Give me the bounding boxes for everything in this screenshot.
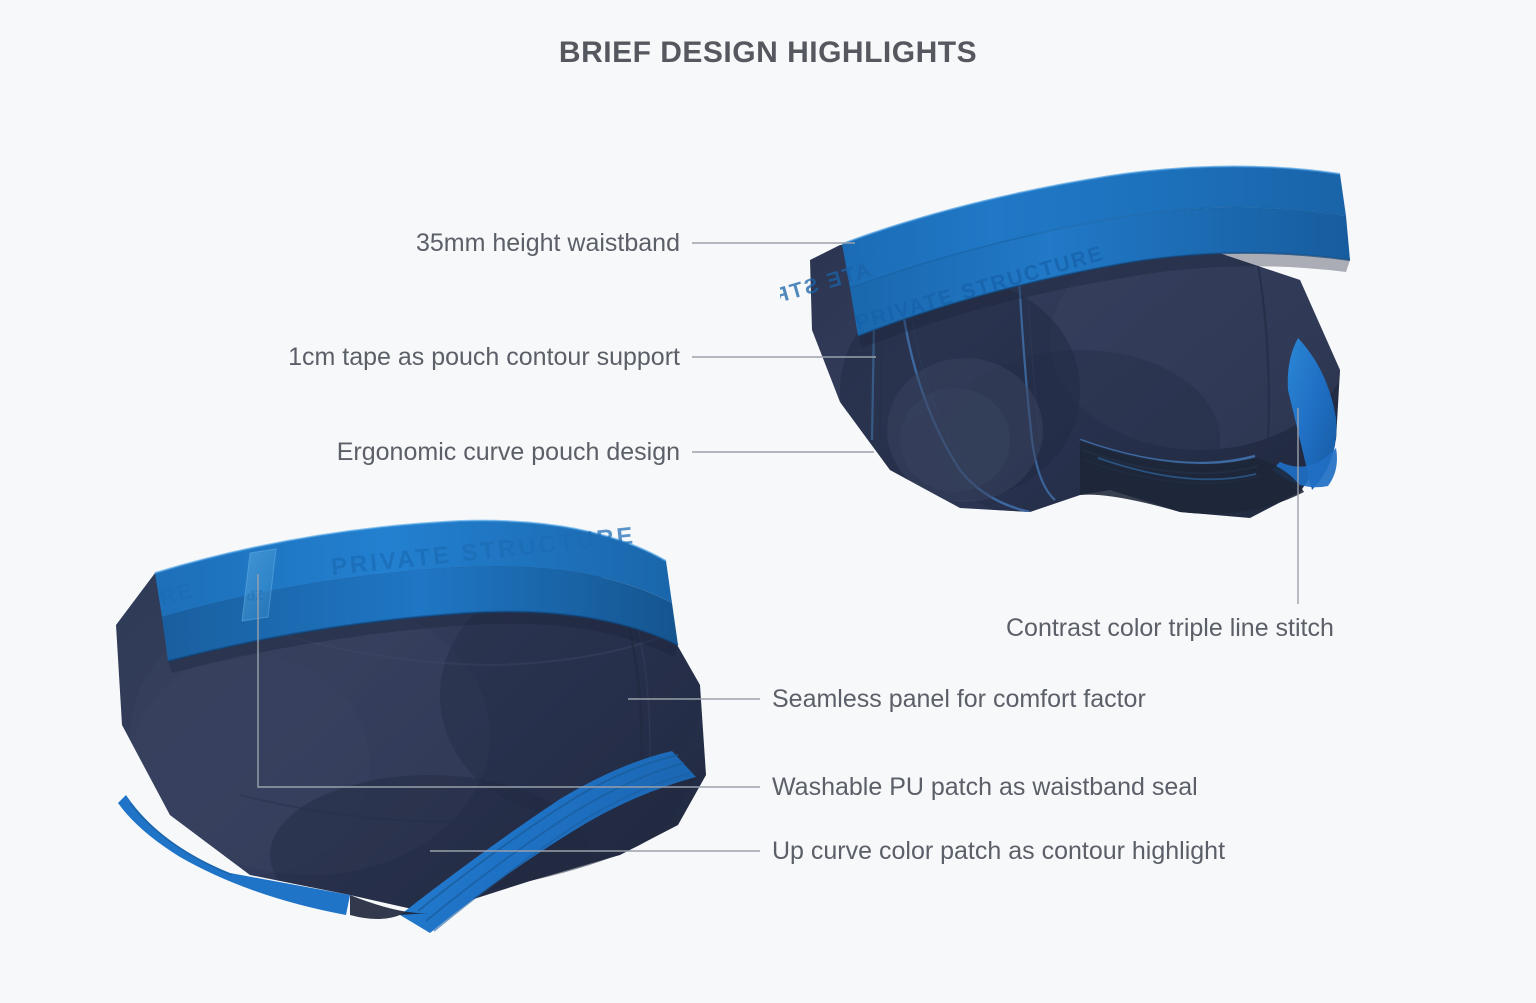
callout-pu-patch: Washable PU patch as waistband seal [772,775,1198,800]
callout-waistband-height: 35mm height waistband [416,231,680,256]
callout-triple-line-stitch: Contrast color triple line stitch [1006,616,1334,641]
callout-up-curve-patch: Up curve color patch as contour highligh… [772,839,1225,864]
garment-front-body: ATE STRUCTUR PRIVATE STRUCTURE [780,166,1350,530]
callout-ergonomic-pouch: Ergonomic curve pouch design [337,440,680,465]
infographic-canvas: BRIEF DESIGN HIGHLIGHTS [0,0,1536,1003]
garment-back-view: PRIVATE STRUCTURE RE dZ [100,495,780,935]
svg-text:dZ: dZ [246,586,265,604]
garment-front-view: ATE STRUCTUR PRIVATE STRUCTURE [780,140,1380,560]
callout-seamless-panel: Seamless panel for comfort factor [772,687,1146,712]
callout-pouch-tape: 1cm tape as pouch contour support [288,345,680,370]
garment-back-body: PRIVATE STRUCTURE RE dZ [116,521,706,935]
page-title: BRIEF DESIGN HIGHLIGHTS [0,36,1536,70]
